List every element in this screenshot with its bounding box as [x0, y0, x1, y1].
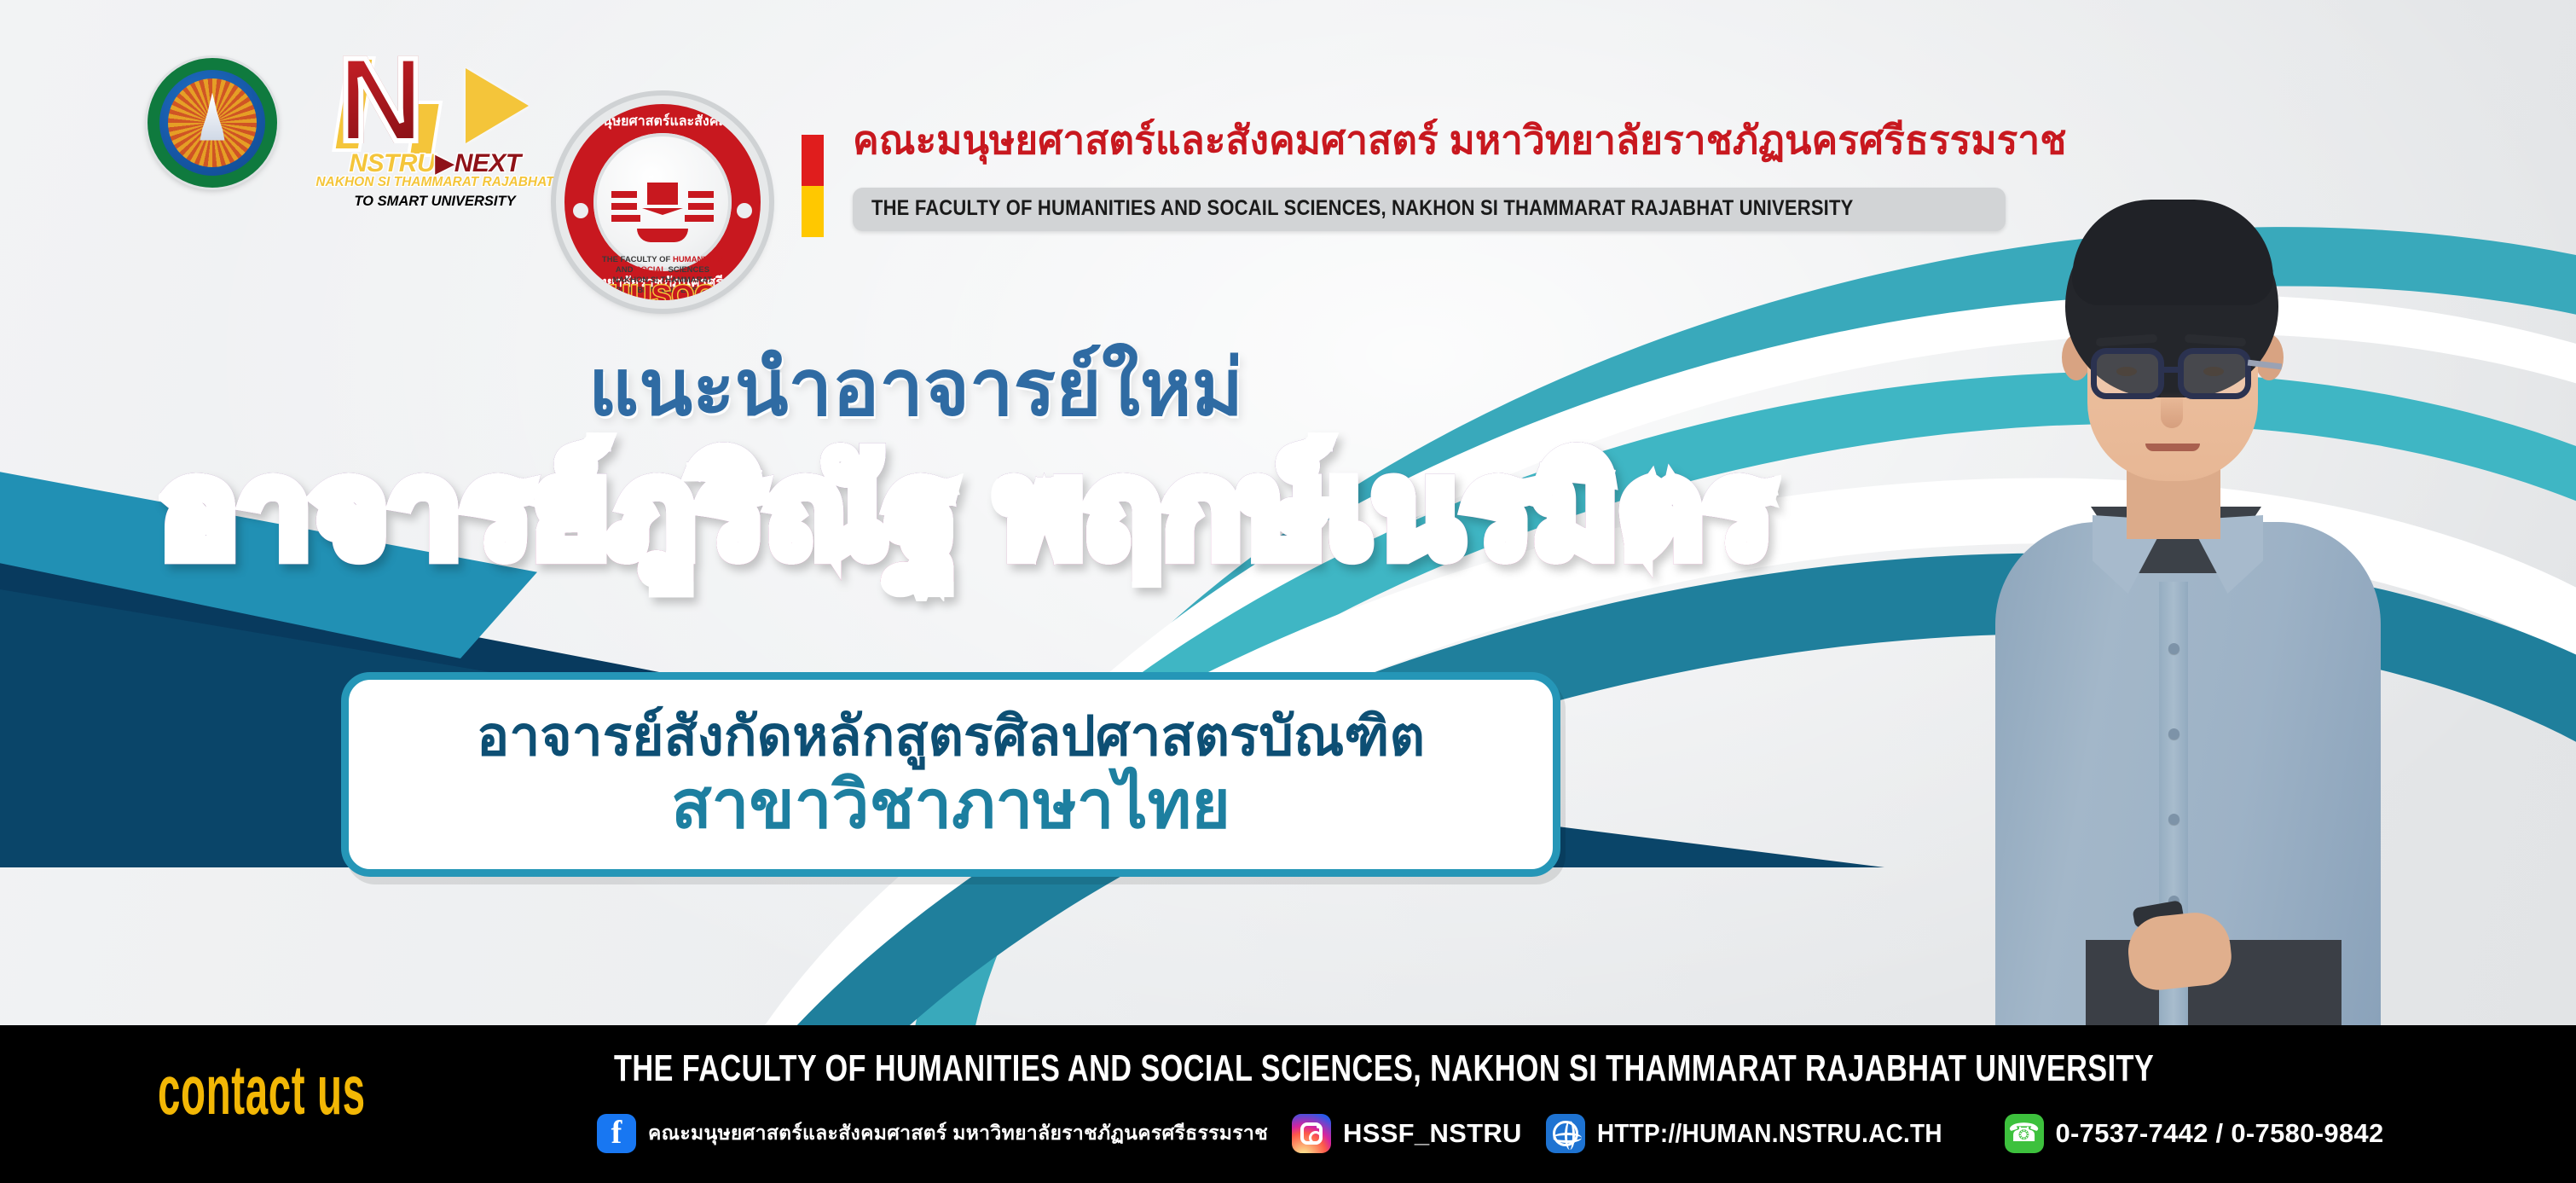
nstru-wordmark: NSTRU▶NEXT: [307, 148, 563, 178]
husoc-ring-top-text: คณะมนุษยศาสตร์และสังคมศาสตร์: [564, 111, 761, 132]
portrait-nose: [2161, 392, 2183, 428]
portrait-hair-top: [2072, 200, 2273, 305]
faculty-name-thai: คณะมนุษยศาสตร์และสังคมศาสตร์ มหาวิทยาลัย…: [853, 109, 2066, 171]
husoc-dot-left-icon: [573, 203, 588, 218]
shirt-button: [2168, 643, 2179, 654]
website-globe-icon[interactable]: [1546, 1114, 1585, 1153]
red-yellow-divider-bar: [802, 135, 824, 237]
nstru-subline-2a: TO SMART: [354, 194, 431, 209]
facebook-icon[interactable]: [597, 1114, 636, 1153]
footer-bar: contact us THE FACULTY OF HUMANITIES AND…: [0, 1025, 2576, 1183]
husoc-en-1c: AND: [616, 265, 635, 275]
nstru-subline-2b: UNIVERSITY: [431, 194, 516, 209]
husoc-logo: คณะมนุษยศาสตร์และสังคมศาสตร์ มหาวิทยาลัย…: [556, 96, 769, 309]
kicker-headline: แนะนำอาจารย์ใหม่: [588, 324, 1243, 449]
divider-yellow-segment: [802, 186, 824, 237]
portrait-glasses-left-lens: [2091, 348, 2164, 399]
portrait-glasses-right-lens: [2178, 348, 2251, 399]
contact-facebook[interactable]: คณะมนุษยศาสตร์และสังคมศาสตร์ มหาวิทยาลัย…: [597, 1114, 1268, 1153]
phone-numbers: 0-7537-7442 / 0-7580-9842: [2056, 1118, 2384, 1149]
husoc-emblem-icon: [611, 183, 714, 249]
husoc-dot-right-icon: [737, 203, 752, 218]
shirt-button: [2168, 728, 2179, 739]
husoc-en-1a: THE FACULTY OF: [602, 255, 673, 264]
nstru-subline-1: NAKHON SI THAMMARAT RAJABHAT: [307, 175, 563, 190]
instructor-first-name: อาจารย์ภูริณัฐ: [160, 438, 958, 582]
program-line-2: สาขาวิชาภาษาไทย: [671, 768, 1230, 842]
instructor-name: อาจารย์ภูริณัฐพฤกษ์เนรมิตร: [160, 444, 1774, 578]
website-url: HTTP://HUMAN.NSTRU.AC.TH: [1597, 1118, 1942, 1149]
husoc-en-1b: HUMANITIES: [673, 255, 723, 264]
husoc-en-1d: SOCIAL: [635, 265, 666, 275]
nstru-word-a: NSTRU: [349, 149, 435, 177]
instructor-portrait: [1983, 121, 2393, 1025]
portrait-glasses-bridge: [2164, 367, 2183, 373]
facebook-handle: คณะมนุษยศาสตร์และสังคมศาสตร์ มหาวิทยาลัย…: [648, 1118, 1268, 1149]
instructor-last-name: พฤกษ์เนรมิตร: [998, 438, 1774, 582]
instagram-icon[interactable]: [1292, 1114, 1331, 1153]
nstru-word-b: NEXT: [454, 149, 521, 177]
husoc-inner-disc: THE FACULTY OF HUMANITIES AND SOCIAL SCI…: [593, 133, 732, 271]
phone-icon[interactable]: [2005, 1114, 2044, 1153]
university-seal-logo: [148, 58, 277, 188]
contact-phone[interactable]: 0-7537-7442 / 0-7580-9842: [2005, 1114, 2384, 1153]
nstru-subline-2: TO SMART UNIVERSITY: [307, 194, 563, 210]
instagram-handle: HSSF_NSTRU: [1343, 1118, 1522, 1149]
contact-website[interactable]: HTTP://HUMAN.NSTRU.AC.TH: [1546, 1114, 1981, 1153]
portrait-mouth: [2145, 444, 2200, 451]
program-line-1: อาจารย์สังกัดหลักสูตรศิลปศาสตรบัณฑิต: [477, 706, 1425, 768]
nstru-play-triangle-icon: [466, 68, 529, 143]
shirt-button: [2168, 814, 2179, 825]
footer-contact-row: คณะมนุษยศาสตร์และสังคมศาสตร์ มหาวิทยาลัย…: [597, 1114, 2407, 1153]
contact-us-label: contact us: [158, 1051, 366, 1131]
promo-banner: N NSTRU▶NEXT NAKHON SI THAMMARAT RAJABHA…: [0, 0, 2576, 1183]
faculty-name-english: THE FACULTY OF HUMANITIES AND SOCAIL SCI…: [871, 196, 1853, 221]
nstru-next-logo: N NSTRU▶NEXT NAKHON SI THAMMARAT RAJABHA…: [307, 53, 563, 198]
divider-red-segment: [802, 135, 824, 186]
nstru-letter-n: N: [338, 53, 420, 147]
program-info-card: อาจารย์สังกัดหลักสูตรศิลปศาสตรบัณฑิต สาข…: [341, 672, 1560, 877]
husoc-en-1e: SCIENCES: [666, 265, 709, 275]
contact-instagram[interactable]: HSSF_NSTRU: [1292, 1114, 1522, 1153]
husoc-en-line-1: THE FACULTY OF HUMANITIES AND SOCIAL SCI…: [600, 255, 725, 275]
nstru-n-mark: N: [338, 53, 534, 155]
nstru-subline-1-text: NAKHON SI THAMMARAT RAJABHAT: [315, 175, 553, 189]
faculty-name-english-pill: THE FACULTY OF HUMANITIES AND SOCAIL SCI…: [853, 188, 2006, 231]
nstru-word-arrow: ▶: [435, 149, 454, 177]
footer-headline: THE FACULTY OF HUMANITIES AND SOCIAL SCI…: [614, 1047, 2154, 1090]
